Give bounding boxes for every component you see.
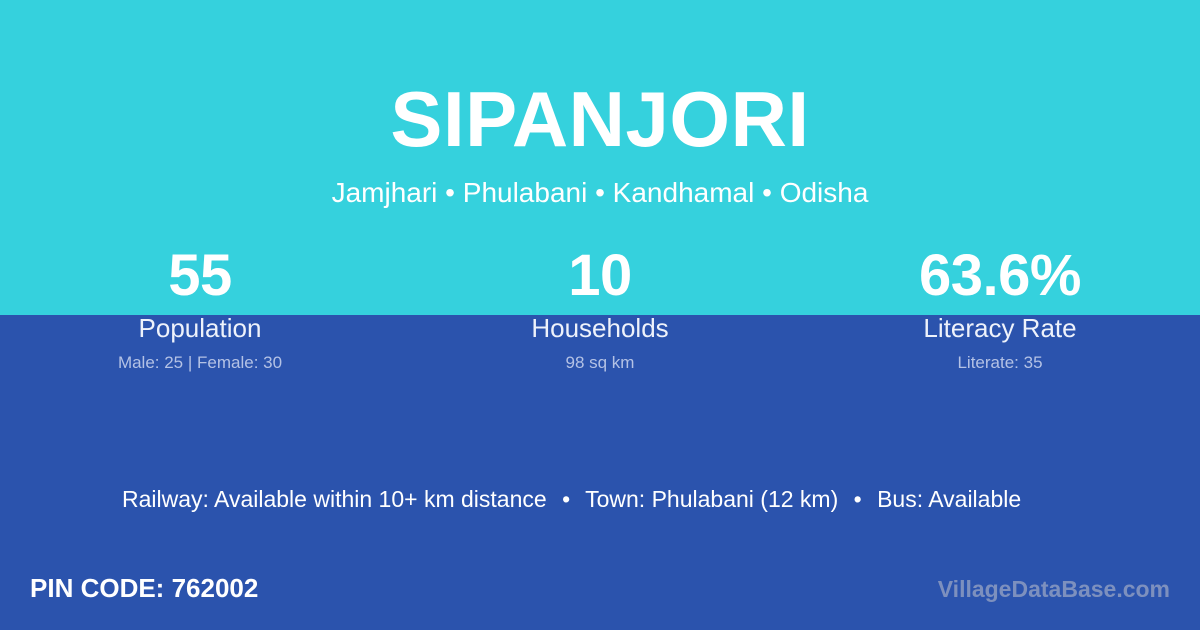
stat-value-literacy-rate: 63.6%: [800, 246, 1200, 306]
stat-households: 10 Households 98 sq km: [400, 246, 800, 371]
stat-value-population: 55: [0, 246, 400, 306]
stat-label-population: Population: [0, 315, 400, 341]
card-header: SIPANJORI Jamjhari • Phulabani • Kandham…: [0, 0, 1200, 207]
village-info-card: SIPANJORI Jamjhari • Phulabani • Kandham…: [0, 0, 1200, 630]
card-footer: PIN CODE: 762002 VillageDataBase.com: [0, 572, 1200, 612]
stat-population: 55 Population Male: 25 | Female: 30: [0, 246, 400, 371]
stat-literacy-rate: 63.6% Literacy Rate Literate: 35: [800, 246, 1200, 371]
stat-value-households: 10: [400, 246, 800, 306]
breadcrumb: Jamjhari • Phulabani • Kandhamal • Odish…: [0, 179, 1200, 207]
pin-code: PIN CODE: 762002: [30, 572, 258, 606]
stat-label-households: Households: [400, 315, 800, 341]
transport-bus: Bus: Available: [877, 486, 1021, 512]
transport-info: Railway: Available within 10+ km distanc…: [122, 486, 1021, 514]
stat-sub-households: 98 sq km: [400, 354, 800, 371]
transport-railway: Railway: Available within 10+ km distanc…: [122, 486, 547, 512]
brand-watermark: VillageDataBase.com: [938, 575, 1170, 605]
transport-separator-1: •: [553, 486, 579, 514]
page-title: SIPANJORI: [0, 80, 1200, 158]
stat-label-literacy-rate: Literacy Rate: [800, 315, 1200, 341]
stat-sub-literacy-rate: Literate: 35: [800, 354, 1200, 371]
stats-row: 55 Population Male: 25 | Female: 30 10 H…: [0, 246, 1200, 371]
transport-town: Town: Phulabani (12 km): [585, 486, 838, 512]
transport-separator-2: •: [845, 486, 871, 514]
stat-sub-population: Male: 25 | Female: 30: [0, 354, 400, 371]
